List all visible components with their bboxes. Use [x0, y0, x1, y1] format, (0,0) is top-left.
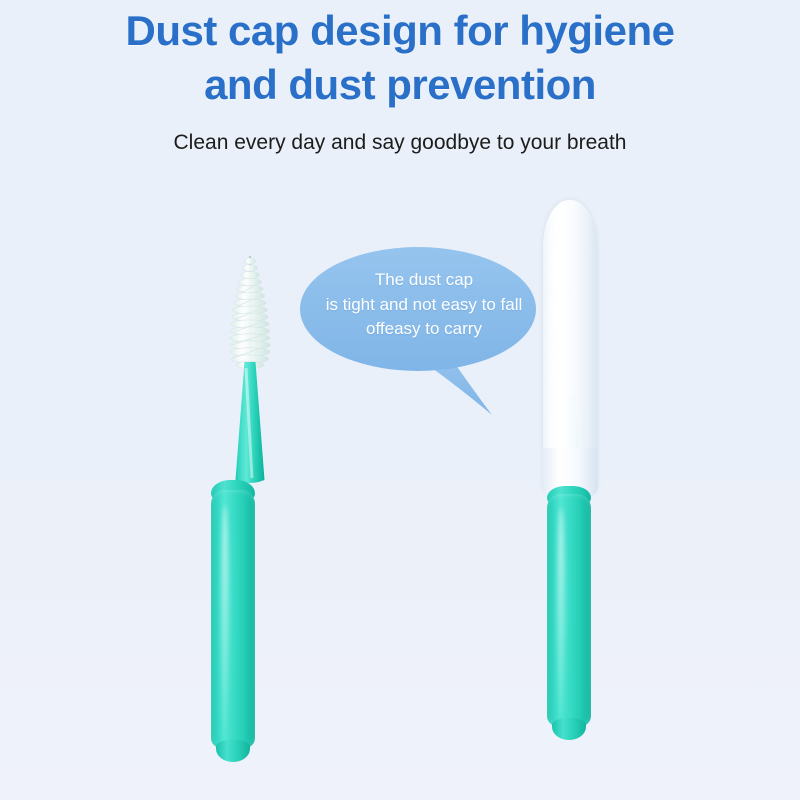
brush-handle — [211, 490, 255, 748]
callout-line-2: is tight and not easy to fall — [310, 293, 538, 318]
promo-banner: Dust cap design for hygiene and dust pre… — [0, 0, 800, 800]
headline-line-1: Dust cap design for hygiene — [126, 7, 675, 54]
product-right-interdental-brush-capped — [505, 198, 635, 788]
capped-handle-end-cap — [552, 718, 586, 740]
brush-neck-taper — [226, 362, 274, 490]
handle-highlight — [221, 505, 229, 732]
headline-line-2: and dust prevention — [0, 58, 800, 112]
dust-cap — [543, 200, 597, 490]
product-left-interdental-brush — [190, 250, 310, 790]
callout-line-1: The dust cap — [310, 268, 538, 293]
brush-head-bristles — [212, 250, 288, 372]
page-title: Dust cap design for hygiene and dust pre… — [0, 4, 800, 112]
dust-cap-highlight — [552, 209, 563, 482]
handle-end-cap — [216, 740, 250, 762]
callout-text: The dust cap is tight and not easy to fa… — [310, 268, 538, 342]
page-subtitle: Clean every day and say goodbye to your … — [0, 129, 800, 157]
callout-line-3: offeasy to carry — [310, 317, 538, 342]
capped-handle-highlight — [557, 508, 565, 712]
capped-brush-handle — [547, 494, 591, 726]
